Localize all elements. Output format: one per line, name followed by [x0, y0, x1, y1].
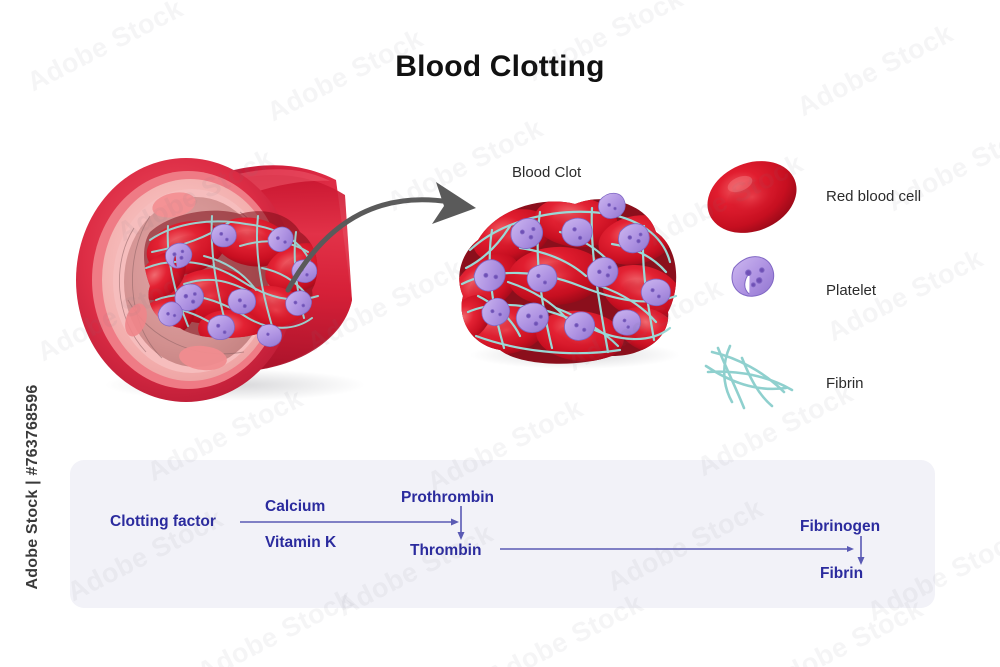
pathway-node-prothrombin: Prothrombin — [401, 489, 494, 507]
legend-label-red-blood-cell: Red blood cell — [826, 188, 921, 205]
page-title: Blood Clotting — [0, 50, 1000, 84]
blood-clot-label: Blood Clot — [512, 164, 581, 181]
pathway-node-thrombin: Thrombin — [410, 542, 481, 560]
pathway-node-calcium: Calcium — [265, 498, 325, 516]
red-blood-cell-icon — [697, 148, 808, 246]
legend-label-platelet: Platelet — [826, 282, 876, 299]
blood-vessel-cross-section — [76, 158, 352, 402]
blood-clot-mass — [439, 192, 687, 365]
platelet-icon — [730, 255, 776, 298]
fibrin-icon — [706, 346, 792, 408]
pathway-node-fibrin: Fibrin — [820, 565, 863, 583]
legend-label-fibrin: Fibrin — [826, 375, 864, 392]
pathway-node-clotting-factor: Clotting factor — [110, 513, 216, 531]
illustration-canvas: Blood Clotting Blood Clot Red blood cell… — [0, 0, 1000, 667]
pathway-node-fibrinogen: Fibrinogen — [800, 518, 880, 536]
adobe-stock-side-watermark: Adobe Stock | #763768596 — [24, 367, 42, 607]
pathway-node-vitamin-k: Vitamin K — [265, 534, 336, 552]
